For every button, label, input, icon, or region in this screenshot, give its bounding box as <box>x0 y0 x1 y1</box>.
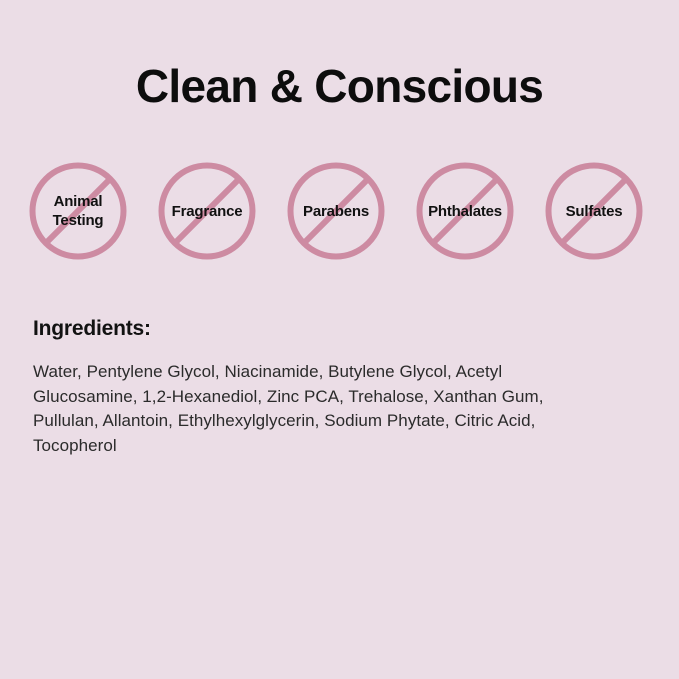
ingredients-line: Pullulan, Allantoin, Ethylhexylglycerin,… <box>33 409 613 434</box>
no-entry-slash-circle-icon <box>28 161 128 261</box>
ingredients-section: Ingredients: Water, Pentylene Glycol, Ni… <box>33 316 633 458</box>
ingredients-line: Glucosamine, 1,2-Hexanediol, Zinc PCA, T… <box>33 385 613 410</box>
badge-animal-testing: Animal Testing <box>28 161 128 261</box>
badge-fragrance: Fragrance <box>157 161 257 261</box>
page-title: Clean & Conscious <box>0 58 679 114</box>
badge-phthalates: Phthalates <box>415 161 515 261</box>
ingredients-line: Tocopherol <box>33 434 613 459</box>
no-entry-slash-circle-icon <box>157 161 257 261</box>
free-from-badge-row: Animal Testing Fragrance Parabens <box>28 161 644 261</box>
badge-sulfates: Sulfates <box>544 161 644 261</box>
no-entry-slash-circle-icon <box>286 161 386 261</box>
clean-conscious-infographic: Clean & Conscious Animal Testing Fragr <box>0 0 679 679</box>
no-entry-slash-circle-icon <box>544 161 644 261</box>
no-entry-slash-circle-icon <box>415 161 515 261</box>
ingredients-line: Water, Pentylene Glycol, Niacinamide, Bu… <box>33 360 613 385</box>
ingredients-list: Water, Pentylene Glycol, Niacinamide, Bu… <box>33 360 613 458</box>
ingredients-heading: Ingredients: <box>33 316 633 342</box>
badge-parabens: Parabens <box>286 161 386 261</box>
